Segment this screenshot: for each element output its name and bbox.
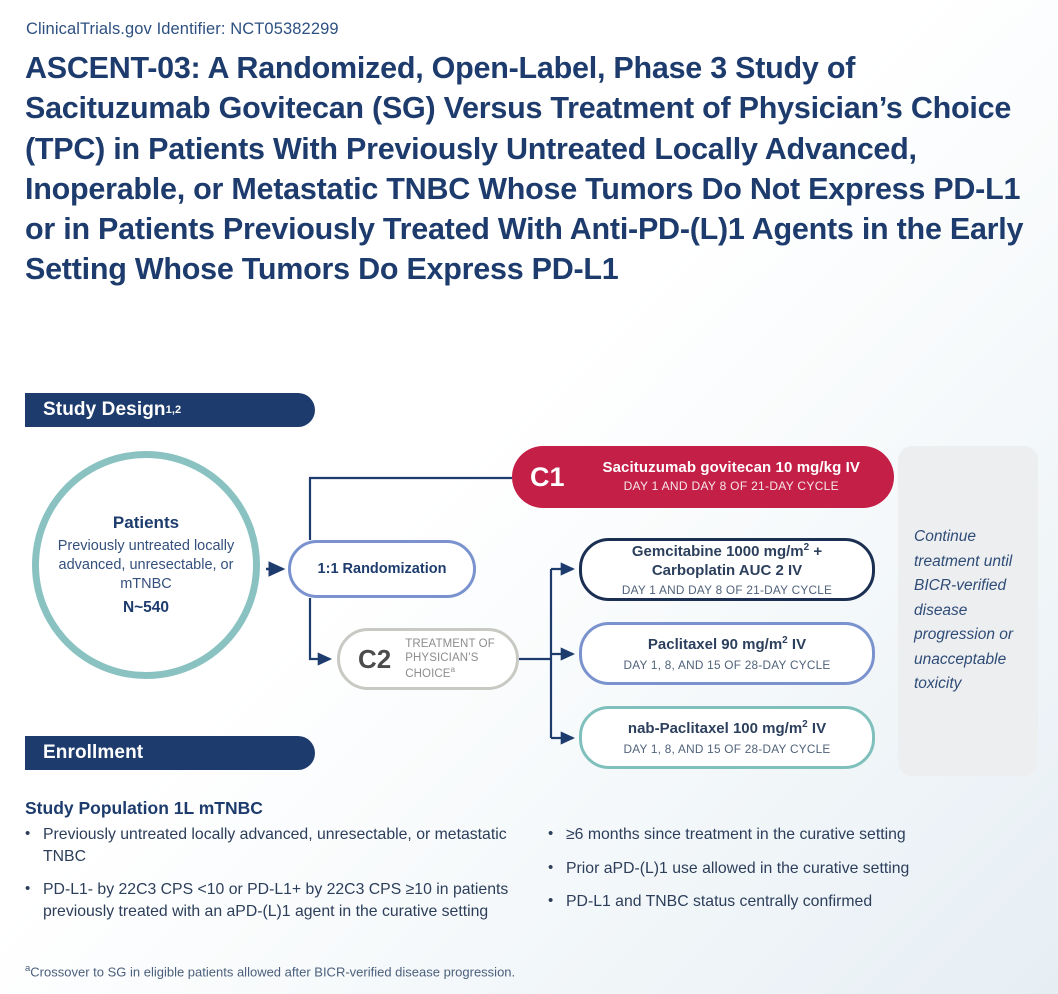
- arm-nab-paclitaxel-box: nab-Paclitaxel 100 mg/m2 IV DAY 1, 8, AN…: [579, 706, 875, 769]
- arm-gemcitabine-carboplatin-drug: Gemcitabine 1000 mg/m2 + Carboplatin AUC…: [632, 542, 822, 580]
- bullet-dot-icon: •: [25, 824, 43, 867]
- connector-randomization-to-c1: [310, 478, 512, 540]
- continue-treatment-text: Continue treatment until BICR-verified d…: [914, 525, 1022, 696]
- patients-sample-size: N~540: [123, 599, 169, 617]
- clinicaltrials-identifier: ClinicalTrials.gov Identifier: NCT053822…: [26, 20, 339, 39]
- arm-paclitaxel-schedule: DAY 1, 8, AND 15 OF 28-DAY CYCLE: [623, 658, 830, 672]
- randomization-box: 1:1 Randomization: [288, 540, 476, 598]
- patients-title: Patients: [113, 513, 179, 533]
- arm-c2-footnote-marker: a: [451, 665, 456, 674]
- page-title: ASCENT-03: A Randomized, Open-Label, Pha…: [25, 48, 1030, 290]
- footnote-text: Crossover to SG in eligible patients all…: [30, 964, 515, 979]
- bullet-dot-icon: •: [25, 879, 43, 922]
- patients-circle: Patients Previously untreated locally ad…: [32, 451, 260, 679]
- patients-description: Previously untreated locally advanced, u…: [39, 537, 253, 594]
- randomization-label: 1:1 Randomization: [318, 561, 447, 577]
- arm-paclitaxel-box: Paclitaxel 90 mg/m2 IV DAY 1, 8, AND 15 …: [579, 622, 875, 685]
- bullet-text: PD-L1 and TNBC status centrally confirme…: [566, 891, 1038, 913]
- arm-c2-label: TREATMENT OF PHYSICIAN’S CHOICEa: [405, 637, 516, 681]
- arm-c1-details: Sacituzumab govitecan 10 mg/kg IV DAY 1 …: [579, 459, 894, 495]
- arm-c1-code: C1: [530, 462, 565, 493]
- section-badge-study-design-label: Study Design: [43, 399, 166, 421]
- section-badge-study-design: Study Design1,2: [25, 393, 315, 427]
- enrollment-bullets-right: •≥6 months since treatment in the curati…: [548, 824, 1038, 925]
- arm-nab-paclitaxel-drug: nab-Paclitaxel 100 mg/m2 IV: [628, 719, 826, 738]
- arm-nab-paclitaxel-schedule: DAY 1, 8, AND 15 OF 28-DAY CYCLE: [623, 742, 830, 756]
- slide-footnote: aCrossover to SG in eligible patients al…: [25, 963, 515, 979]
- enrollment-bullets-left: •Previously untreated locally advanced, …: [25, 824, 525, 935]
- arm-c1-box: C1 Sacituzumab govitecan 10 mg/kg IV DAY…: [512, 446, 894, 508]
- arm-c2-code: C2: [358, 644, 391, 675]
- bullet-dot-icon: •: [548, 891, 566, 913]
- bullet-item: •≥6 months since treatment in the curati…: [548, 824, 1038, 846]
- bullet-dot-icon: •: [548, 824, 566, 846]
- study-population-heading: Study Population 1L mTNBC: [25, 798, 263, 819]
- bullet-item: •Previously untreated locally advanced, …: [25, 824, 525, 867]
- study-design-reference-marker: 1,2: [166, 404, 182, 416]
- bullet-item: •PD-L1- by 22C3 CPS <10 or PD-L1+ by 22C…: [25, 879, 525, 922]
- arm-c1-drug: Sacituzumab govitecan 10 mg/kg IV: [602, 459, 860, 476]
- section-badge-enrollment-label: Enrollment: [43, 742, 143, 764]
- bullet-dot-icon: •: [548, 858, 566, 880]
- section-badge-enrollment: Enrollment: [25, 736, 315, 770]
- connector-randomization-to-c2: [310, 598, 330, 659]
- bullet-text: ≥6 months since treatment in the curativ…: [566, 824, 1038, 846]
- arm-gemcitabine-carboplatin-schedule: DAY 1 AND DAY 8 OF 21-DAY CYCLE: [622, 583, 832, 597]
- slide-root: ClinicalTrials.gov Identifier: NCT053822…: [0, 0, 1058, 994]
- bullet-text: Prior aPD-(L)1 use allowed in the curati…: [566, 858, 1038, 880]
- bullet-text: PD-L1- by 22C3 CPS <10 or PD-L1+ by 22C3…: [43, 879, 525, 922]
- arm-gemcitabine-carboplatin-box: Gemcitabine 1000 mg/m2 + Carboplatin AUC…: [579, 538, 875, 601]
- arm-c1-schedule: DAY 1 AND DAY 8 OF 21-DAY CYCLE: [624, 479, 839, 493]
- bullet-text: Previously untreated locally advanced, u…: [43, 824, 525, 867]
- continue-treatment-panel: Continue treatment until BICR-verified d…: [898, 446, 1038, 776]
- bullet-item: •PD-L1 and TNBC status centrally confirm…: [548, 891, 1038, 913]
- bullet-item: •Prior aPD-(L)1 use allowed in the curat…: [548, 858, 1038, 880]
- arm-c2-box: C2 TREATMENT OF PHYSICIAN’S CHOICEa: [337, 628, 519, 690]
- arm-paclitaxel-drug: Paclitaxel 90 mg/m2 IV: [648, 635, 806, 654]
